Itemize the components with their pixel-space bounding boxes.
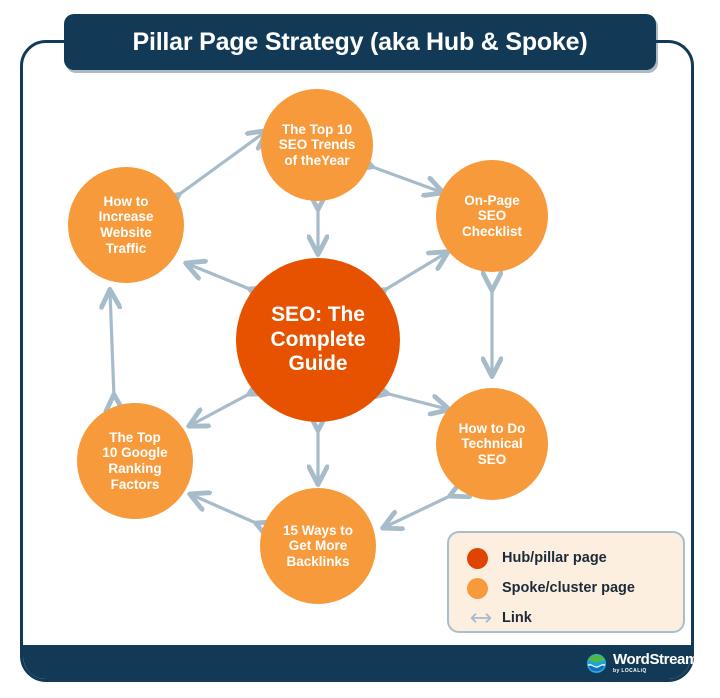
legend-box: Hub/pillar page Spoke/cluster page Link (447, 531, 685, 633)
spoke-circle-icon (467, 578, 488, 599)
legend-item-hub: Hub/pillar page (467, 544, 683, 572)
page-title: Pillar Page Strategy (aka Hub & Spoke) (132, 28, 587, 57)
spoke-node-technical-seo[interactable]: How to Do Technical SEO (436, 388, 548, 500)
legend-item-label: Hub/pillar page (502, 550, 607, 566)
hub-node-seo-complete-guide[interactable]: SEO: The Complete Guide (236, 258, 400, 422)
spoke-node-label: The Top 10 SEO Trends of theYear (273, 122, 362, 169)
spoke-node-label: How to Do Technical SEO (453, 421, 532, 468)
infographic-canvas: Pillar Page Strategy (aka Hub & Spoke) S… (0, 0, 720, 698)
spoke-node-label: How to Increase Website Traffic (93, 194, 160, 257)
spoke-node-seo-trends[interactable]: The Top 10 SEO Trends of theYear (261, 89, 373, 201)
wordstream-logo: WordStream by LOCALiQ (586, 652, 698, 674)
spoke-node-ranking-factors[interactable]: The Top 10 Google Ranking Factors (77, 403, 193, 519)
brand-tagline: by LOCALiQ (613, 669, 647, 674)
wordstream-logo-text: WordStream by LOCALiQ (613, 652, 698, 674)
legend-item-spoke: Spoke/cluster page (467, 574, 683, 602)
double-arrow-icon (467, 611, 495, 625)
spoke-node-backlinks[interactable]: 15 Ways to Get More Backlinks (260, 488, 376, 604)
spoke-node-label: The Top 10 Google Ranking Factors (96, 430, 173, 493)
brand-name: WordStream (613, 652, 698, 667)
title-banner: Pillar Page Strategy (aka Hub & Spoke) (64, 14, 656, 70)
hub-circle-icon (467, 548, 488, 569)
spoke-node-label: 15 Ways to Get More Backlinks (277, 523, 359, 570)
spoke-node-on-page-checklist[interactable]: On-Page SEO Checklist (436, 160, 548, 272)
wordstream-logo-icon (586, 653, 607, 674)
spoke-node-website-traffic[interactable]: How to Increase Website Traffic (68, 167, 184, 283)
legend-item-label: Spoke/cluster page (502, 580, 635, 596)
hub-node-label: SEO: The Complete Guide (265, 303, 372, 376)
legend-item-label: Link (502, 610, 532, 626)
legend-item-link: Link (467, 604, 683, 632)
spoke-node-label: On-Page SEO Checklist (456, 193, 528, 240)
